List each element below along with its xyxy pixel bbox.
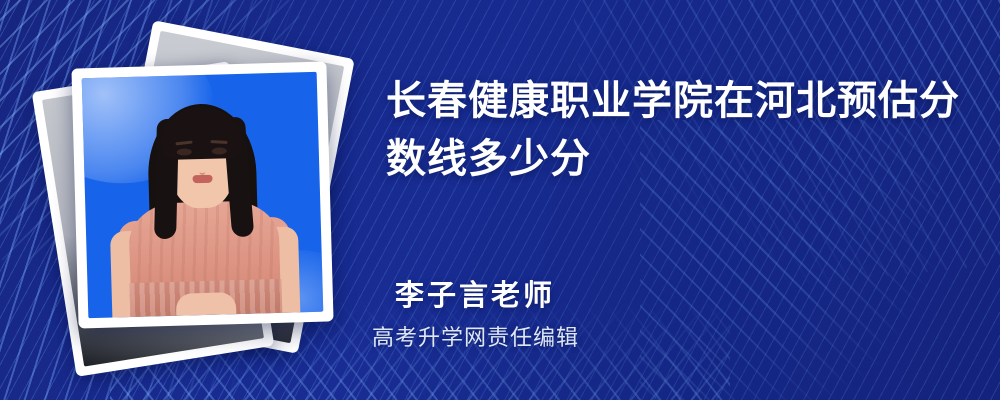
portrait-figure <box>82 72 324 318</box>
photo-card-stack <box>45 35 365 365</box>
author-name: 李子言老师 <box>395 272 555 314</box>
nose <box>199 163 205 175</box>
headline-title: 长春健康职业学院在河北预估分数线多少分 <box>386 72 966 188</box>
photo-card-front <box>71 61 333 328</box>
promo-banner: 长春健康职业学院在河北预估分数线多少分 李子言老师 高考升学网责任编辑 <box>0 0 1000 400</box>
hands <box>175 293 236 316</box>
portrait-photo <box>82 72 324 318</box>
author-role: 高考升学网责任编辑 <box>372 320 579 352</box>
mouth <box>192 174 212 183</box>
text-column: 长春健康职业学院在河北预估分数线多少分 李子言老师 高考升学网责任编辑 <box>386 0 986 400</box>
